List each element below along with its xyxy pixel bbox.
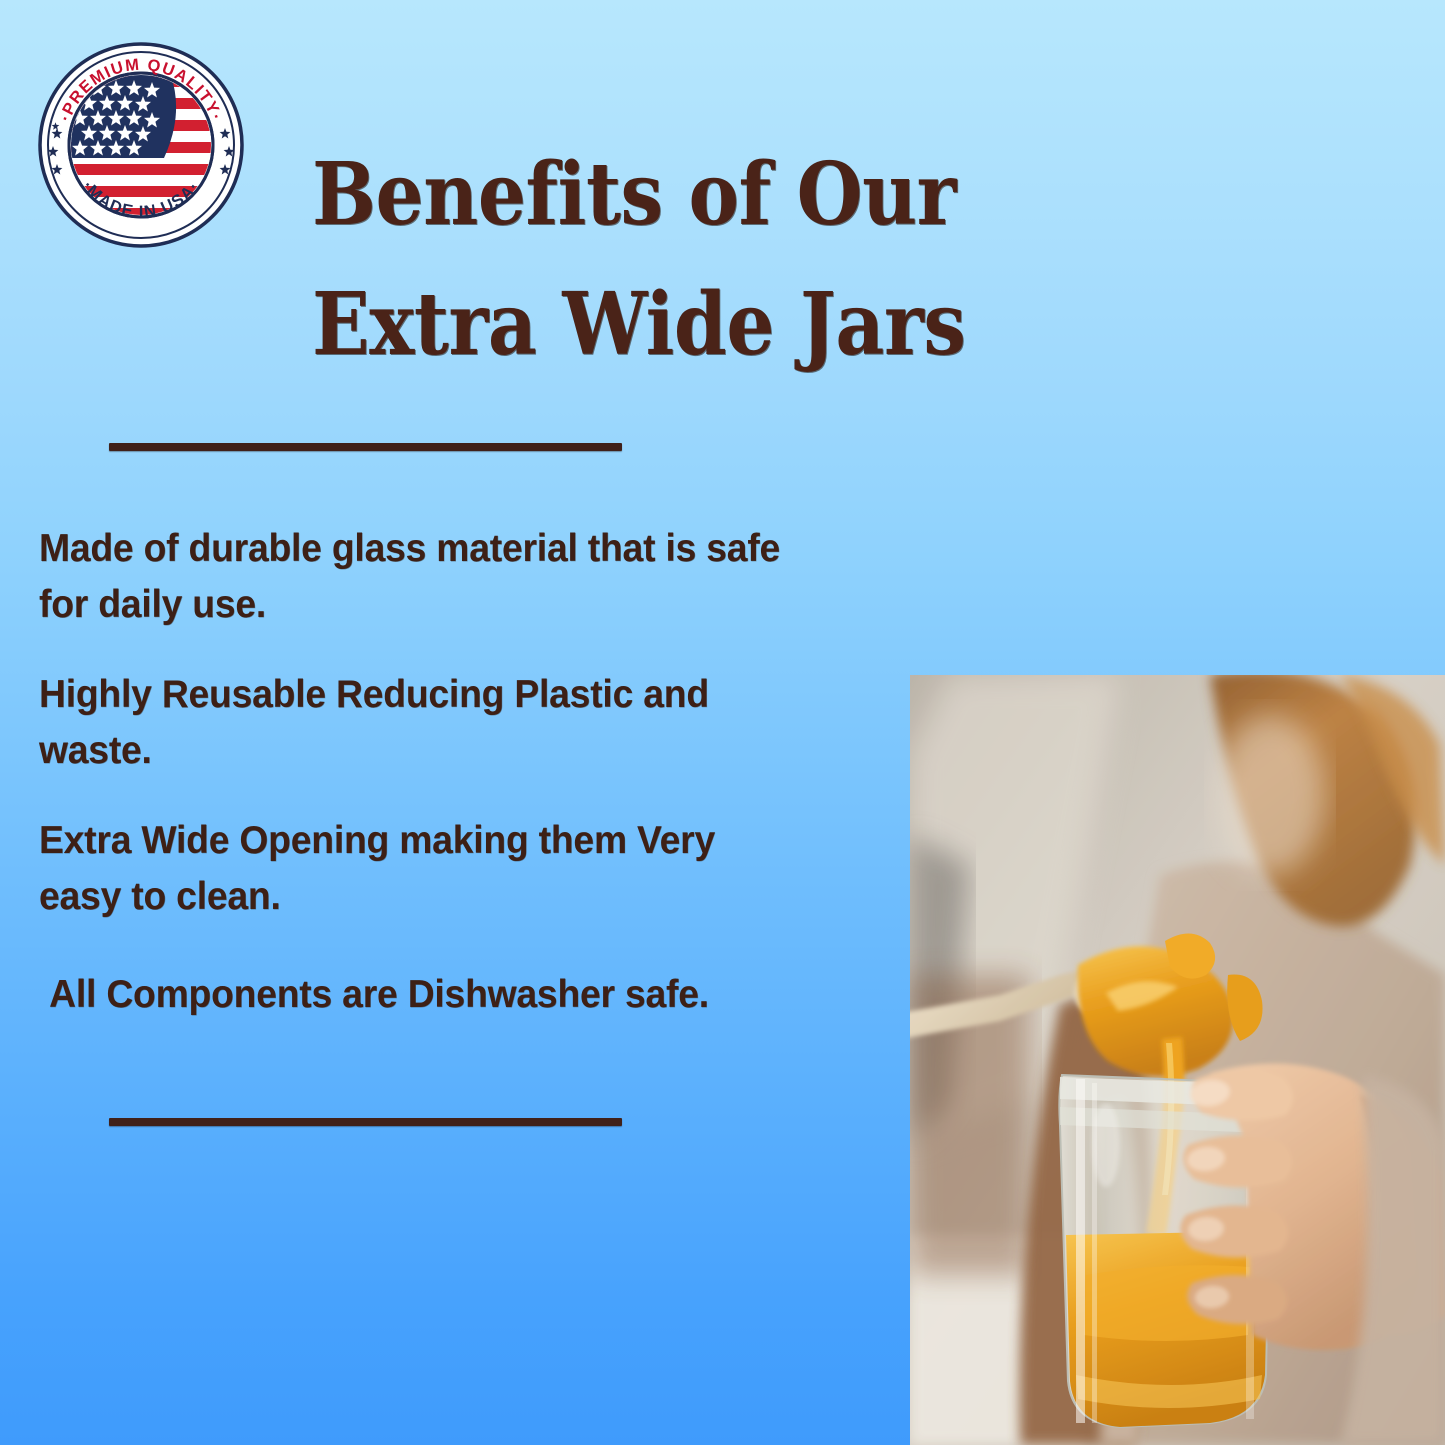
infographic-canvas: ·PREMIUM QUALITY· ·MADE IN USA· Benefits… <box>0 0 1445 1445</box>
product-photo <box>910 675 1445 1445</box>
page-title: Benefits of Our Extra Wide Jars <box>312 130 1086 390</box>
benefits-list: Made of durable glass material that is s… <box>39 521 879 1023</box>
made-in-usa-badge: ·PREMIUM QUALITY· ·MADE IN USA· <box>36 40 246 250</box>
page-title-line-1: Benefits of Our <box>312 130 1086 260</box>
divider-top <box>109 443 622 451</box>
divider-bottom <box>109 1118 622 1126</box>
benefit-item-wide-opening: Extra Wide Opening making them Very easy… <box>39 813 879 925</box>
benefit-item-dishwasher-safe: All Components are Dishwasher safe. <box>39 967 879 1023</box>
page-title-line-2: Extra Wide Jars <box>312 260 1086 390</box>
benefit-item-durable-glass: Made of durable glass material that is s… <box>39 521 879 633</box>
benefit-item-reusable: Highly Reusable Reducing Plastic and was… <box>39 667 879 779</box>
